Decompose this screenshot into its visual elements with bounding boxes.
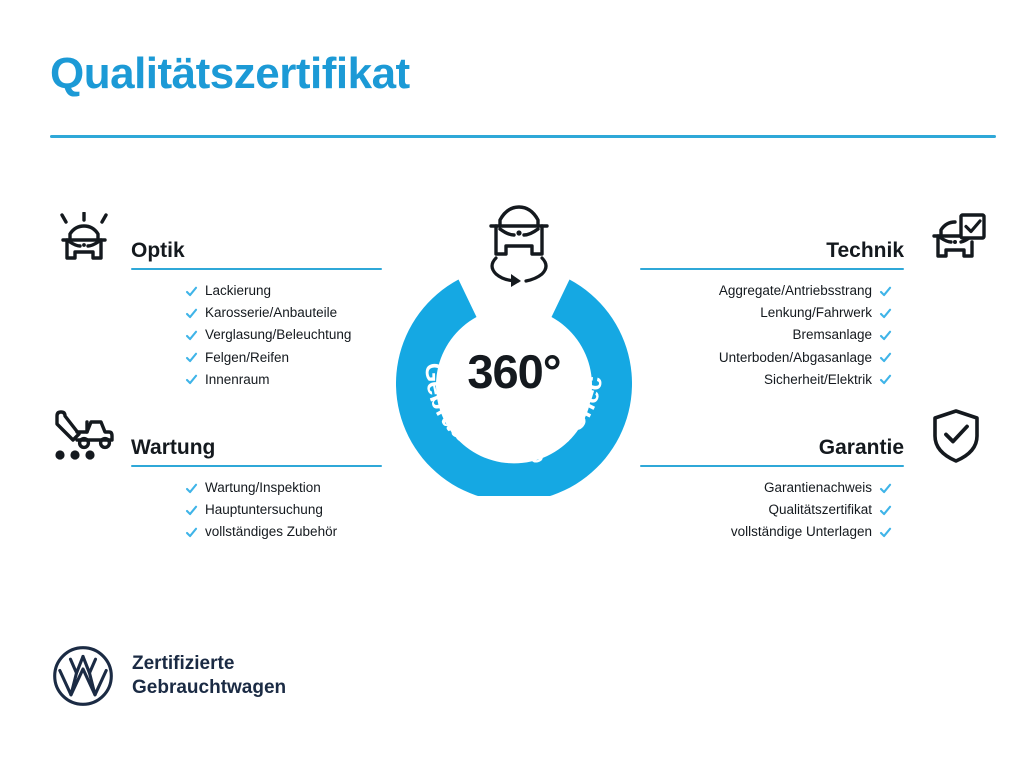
list-item-label: Lackierung [205,284,271,298]
list-item: Garantienachweis [640,481,892,495]
section-wartung: Wartung Wartung/Inspektion Hauptuntersuc… [48,405,382,548]
section-technik-underline [640,268,904,270]
check-icon [879,482,892,495]
check-icon [185,329,198,342]
car-checkbox-icon [920,208,992,270]
section-technik-title-wrap: Technik [640,239,904,270]
list-item: Innenraum [185,373,382,387]
list-item-label: Sicherheit/Elektrik [764,373,872,387]
section-technik-header: Technik [640,208,992,270]
footer-brand-text: Zertifizierte Gebrauchtwagen [132,652,286,701]
list-item-label: vollständiges Zubehör [205,525,337,539]
badge-degrees: 360° [380,348,648,395]
section-optik-list: Lackierung Karosserie/Anbauteile Verglas… [48,270,382,387]
car-service-tool-icon [48,405,120,467]
check-icon [879,307,892,320]
check-icon [879,351,892,364]
section-garantie-header: Garantie [640,405,992,467]
list-item-label: Wartung/Inspektion [205,481,321,495]
section-optik-header: Optik [48,208,382,270]
list-item: Hauptuntersuchung [185,503,382,517]
volkswagen-logo [52,645,114,707]
list-item-label: Verglasung/Beleuchtung [205,328,351,342]
list-item-label: Qualitätszertifikat [768,503,872,517]
list-item: Wartung/Inspektion [185,481,382,495]
section-wartung-title: Wartung [131,436,382,465]
list-item-label: Hauptuntersuchung [205,503,323,517]
list-item: Aggregate/Antriebsstrang [640,284,892,298]
page-title: Qualitätszertifikat [50,52,410,96]
check-icon [185,482,198,495]
check-icon [879,504,892,517]
list-item-label: Unterboden/Abgasanlage [719,351,872,365]
list-item-label: Innenraum [205,373,270,387]
list-item-label: Bremsanlage [792,328,872,342]
section-optik-title: Optik [131,239,382,268]
list-item: Karosserie/Anbauteile [185,306,382,320]
section-garantie: Garantie Garantienachweis Qualitätszerti… [640,405,992,548]
360-check-badge: Gebrauchtwagen-Check 360° [380,196,648,496]
check-icon [185,526,198,539]
list-item-label: Garantienachweis [764,481,872,495]
section-garantie-title: Garantie [640,436,904,465]
list-item-label: Lenkung/Fahrwerk [760,306,872,320]
list-item: Unterboden/Abgasanlage [640,351,892,365]
check-icon [879,285,892,298]
check-icon [185,307,198,320]
list-item: Lackierung [185,284,382,298]
list-item: vollständige Unterlagen [640,525,892,539]
check-icon [185,351,198,364]
section-garantie-underline [640,465,904,467]
footer-brand-line2: Gebrauchtwagen [132,676,286,700]
footer-brand-line1: Zertifizierte [132,652,286,676]
car-shine-icon [48,208,120,270]
check-icon [185,285,198,298]
section-garantie-title-wrap: Garantie [640,436,904,467]
list-item: vollständiges Zubehör [185,525,382,539]
list-item: Lenkung/Fahrwerk [640,306,892,320]
shield-check-icon [920,405,992,467]
list-item-label: Karosserie/Anbauteile [205,306,337,320]
section-wartung-list: Wartung/Inspektion Hauptuntersuchung vol… [48,467,382,540]
section-wartung-underline [131,465,382,467]
list-item: Sicherheit/Elektrik [640,373,892,387]
check-icon [879,329,892,342]
check-icon [879,373,892,386]
list-item-label: vollständige Unterlagen [731,525,872,539]
section-optik-title-wrap: Optik [131,239,382,270]
section-technik: Technik Aggregate/Antriebsstrang Lenkung… [640,208,992,395]
section-technik-title: Technik [640,239,904,268]
section-optik: Optik Lackierung Karosserie/Anbauteile V… [48,208,382,395]
car-rotation-icon [474,196,564,292]
section-wartung-title-wrap: Wartung [131,436,382,467]
header-divider [50,135,996,138]
list-item: Bremsanlage [640,328,892,342]
check-icon [879,526,892,539]
section-optik-underline [131,268,382,270]
list-item: Felgen/Reifen [185,351,382,365]
check-icon [185,504,198,517]
check-icon [185,373,198,386]
section-garantie-list: Garantienachweis Qualitätszertifikat vol… [640,467,992,540]
list-item-label: Aggregate/Antriebsstrang [719,284,872,298]
section-wartung-header: Wartung [48,405,382,467]
list-item: Qualitätszertifikat [640,503,892,517]
certificate-page: Qualitätszertifikat Optik [0,0,1024,768]
section-technik-list: Aggregate/Antriebsstrang Lenkung/Fahrwer… [640,270,992,387]
footer-brand-lockup: Zertifizierte Gebrauchtwagen [52,645,286,707]
list-item-label: Felgen/Reifen [205,351,289,365]
list-item: Verglasung/Beleuchtung [185,328,382,342]
